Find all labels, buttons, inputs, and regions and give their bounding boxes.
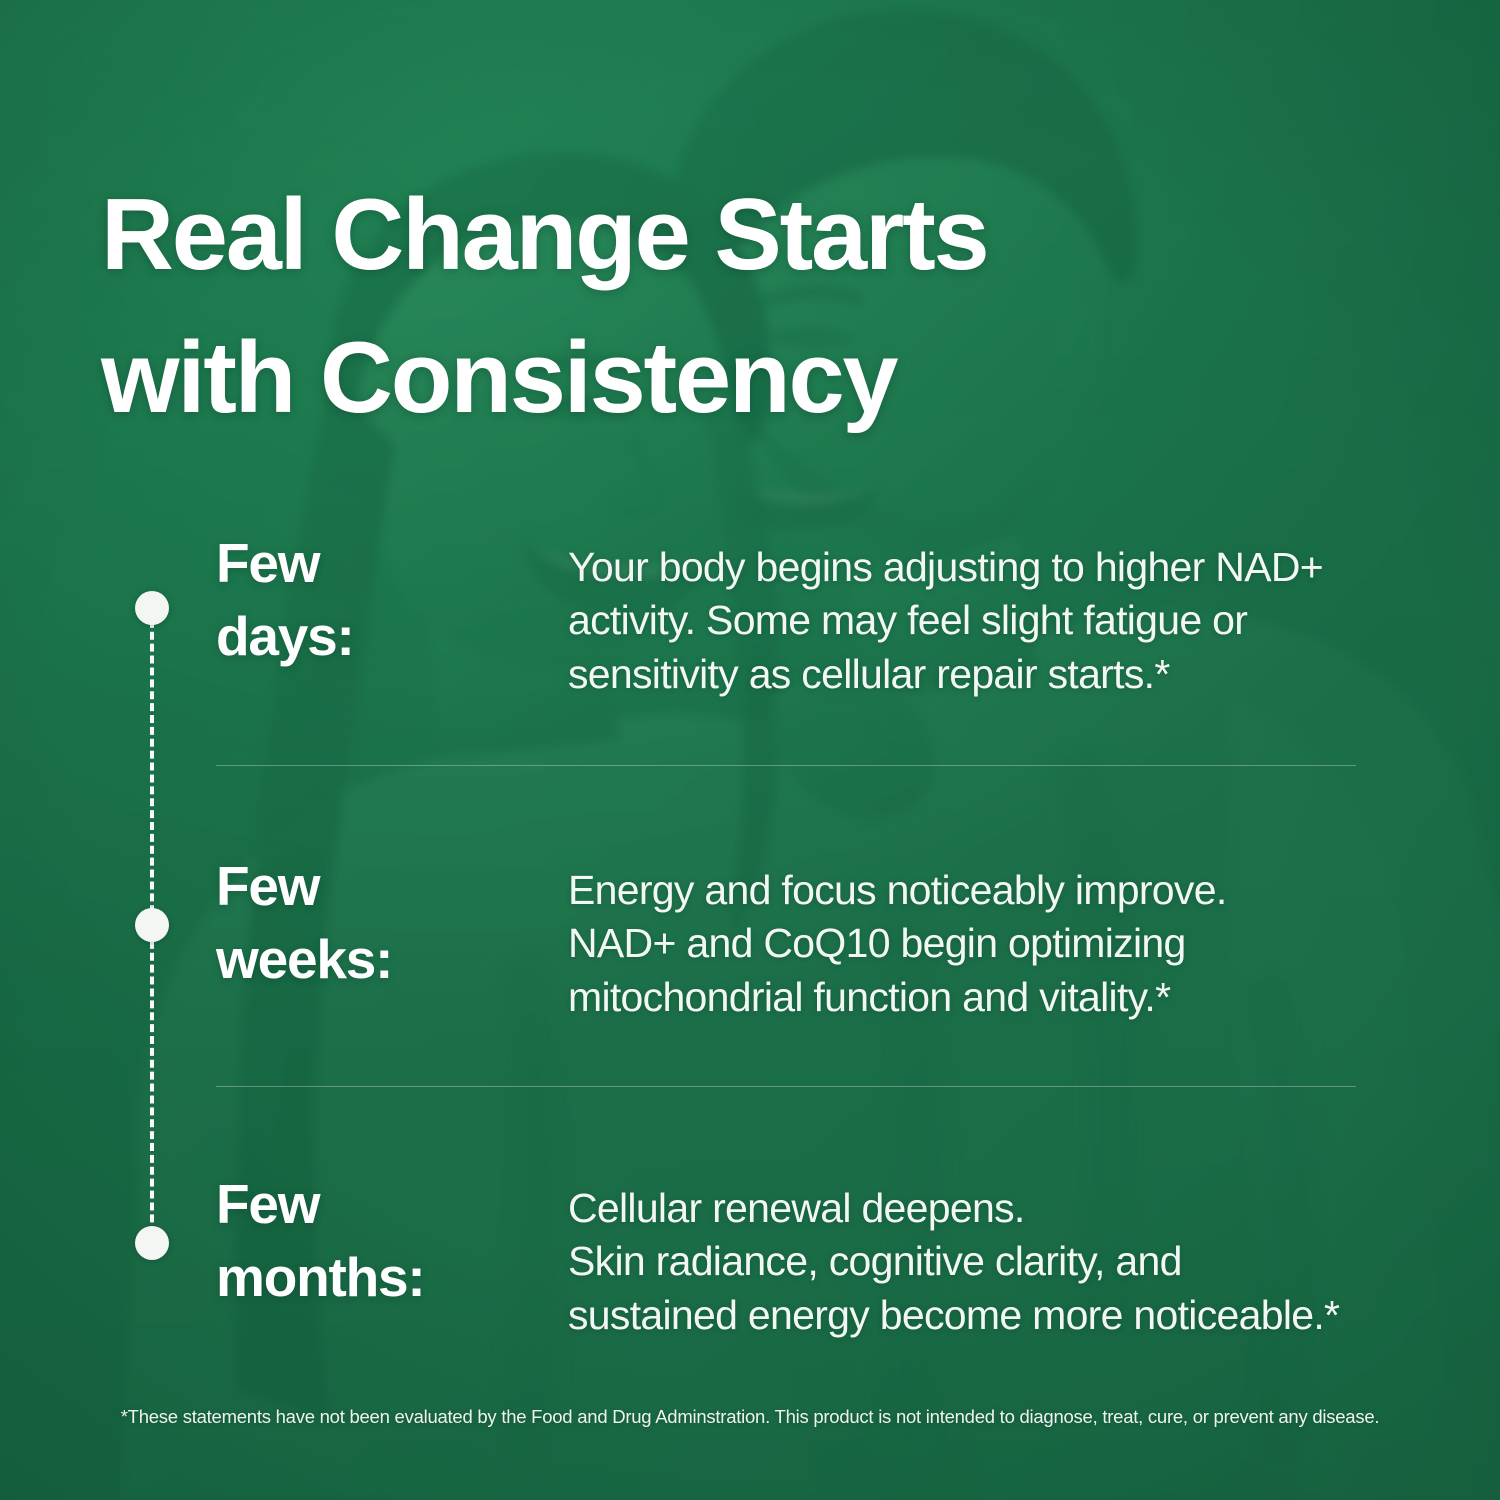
timeline-dot-days [135,591,169,625]
timeline-row-days: Few days: Your body begins adjusting to … [216,527,1456,701]
timeline-description: Energy and focus noticeably improve. NAD… [568,850,1456,1024]
timeline-description: Your body begins adjusting to higher NAD… [568,527,1456,701]
section-divider [216,1086,1356,1087]
poster-content: Real Change Starts with Consistency Few … [0,0,1500,1500]
timeline-row-weeks: Few weeks: Energy and focus noticeably i… [216,850,1456,1024]
page-title: Real Change Starts with Consistency [101,164,1341,451]
section-divider [216,765,1356,766]
timeline-label: Few days: [216,527,568,673]
timeline-description: Cellular renewal deepens. Skin radiance,… [568,1168,1456,1342]
promo-poster: Real Change Starts with Consistency Few … [0,0,1500,1500]
timeline-label: Few months: [216,1168,568,1314]
timeline-dot-months [135,1226,169,1260]
legal-disclaimer: *These statements have not been evaluate… [0,1406,1500,1428]
timeline-row-months: Few months: Cellular renewal deepens. Sk… [216,1168,1456,1342]
timeline-dot-weeks [135,908,169,942]
timeline-label: Few weeks: [216,850,568,996]
